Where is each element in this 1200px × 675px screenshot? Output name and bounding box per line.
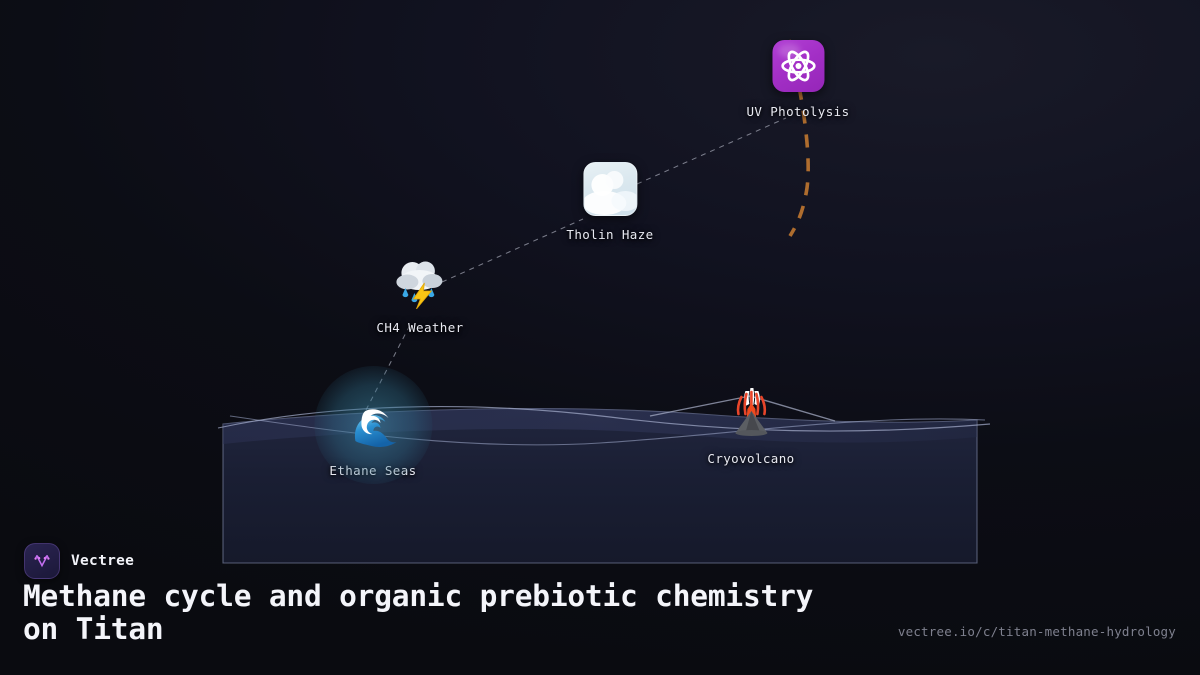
volcano-icon — [723, 385, 779, 441]
vectree-canvas: UV Photolysis Tholin Haze — [0, 0, 1200, 675]
cloud-icon-svg — [584, 163, 636, 215]
wave-icon — [345, 397, 401, 453]
cloud-icon — [583, 162, 637, 216]
brand-name: Vectree — [71, 553, 134, 569]
node-cryovolcano-art — [722, 384, 780, 442]
node-cryovolcano-label: Cryovolcano — [707, 451, 794, 466]
atom-icon — [772, 40, 824, 92]
node-ch4-weather-label: CH4 Weather — [376, 320, 463, 335]
node-ch4-weather-art — [391, 253, 449, 311]
node-tholin-haze-label: Tholin Haze — [566, 227, 653, 242]
node-ethane-seas-label: Ethane Seas — [329, 463, 416, 478]
node-uv-photolysis-art — [769, 37, 827, 95]
atom-icon-svg — [778, 46, 818, 86]
node-layer: UV Photolysis Tholin Haze — [0, 0, 1200, 675]
brand-lockup[interactable]: Vectree — [24, 543, 134, 579]
thunderstorm-icon — [391, 255, 449, 309]
vectree-v-tree-icon-svg — [31, 550, 53, 572]
node-tholin-haze-art — [581, 160, 639, 218]
node-ethane-seas-art — [344, 396, 402, 454]
node-cryovolcano[interactable]: Cryovolcano — [707, 384, 794, 466]
node-uv-photolysis-label: UV Photolysis — [746, 104, 849, 119]
node-ethane-seas[interactable]: Ethane Seas — [329, 396, 416, 478]
node-tholin-haze[interactable]: Tholin Haze — [566, 160, 653, 242]
vectree-logo-icon — [24, 543, 60, 579]
node-uv-photolysis[interactable]: UV Photolysis — [746, 37, 849, 119]
node-ch4-weather[interactable]: CH4 Weather — [376, 253, 463, 335]
